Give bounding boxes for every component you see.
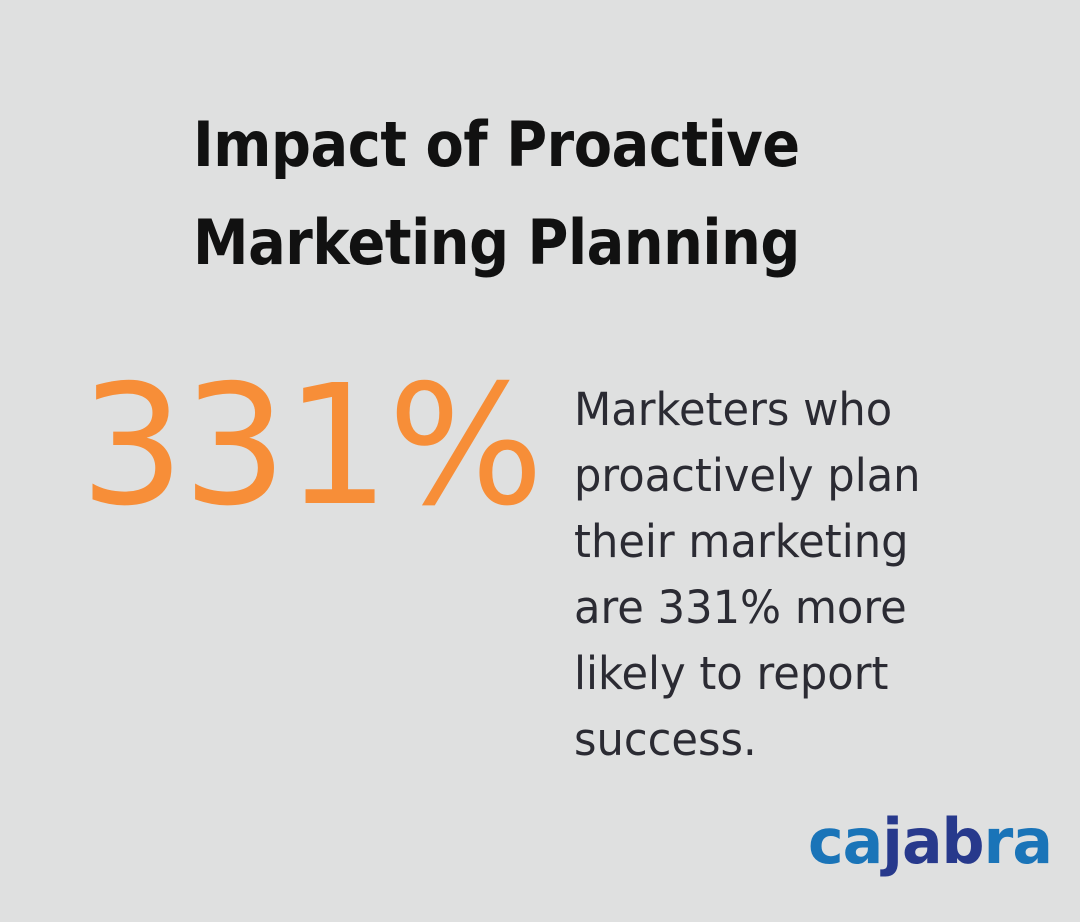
cajabra-logo: cajabra	[808, 806, 1052, 878]
logo-segment-ra: ra	[984, 805, 1052, 878]
logo-segment-jab: jab	[882, 805, 983, 878]
statistic-value: 331%	[80, 364, 542, 530]
statistic-description: Marketers who proactively plan their mar…	[574, 377, 987, 773]
infographic-canvas: Impact of Proactive Marketing Planning 3…	[0, 0, 1080, 922]
statistic-section: 331% Marketers who proactively plan thei…	[0, 0, 1080, 922]
logo-segment-ca: ca	[808, 805, 882, 878]
